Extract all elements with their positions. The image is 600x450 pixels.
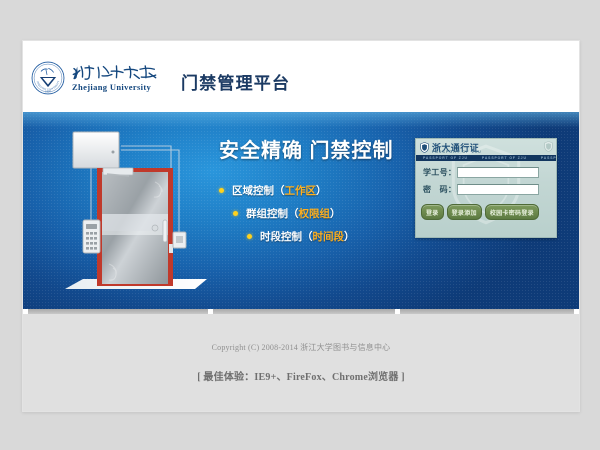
bullet-dot-icon xyxy=(219,188,224,193)
login-button-group: 登录 登录添加 校园卡密码登录 xyxy=(421,204,556,220)
page-title: 门禁管理平台 xyxy=(181,69,290,94)
feature-accent: 工作区 xyxy=(285,183,317,198)
strip-text: PASSPORT OF ZJU xyxy=(475,156,534,160)
password-input[interactable] xyxy=(457,184,539,195)
username-label: 学工号： xyxy=(423,167,457,178)
login-add-button[interactable]: 登录添加 xyxy=(447,204,482,220)
hero-banner: 安全精确 门禁控制 区域控制（工作区） 群组控制（权限组） 时段控制（时间段） xyxy=(23,112,579,309)
feature-accent: 时间段 xyxy=(313,229,345,244)
feature-label: 群组控制（ xyxy=(246,206,299,221)
panel-title-en: PASSPORT OF ZJU xyxy=(432,150,482,154)
feature-label: 时段控制（ xyxy=(260,229,313,244)
university-name-en: Zhejiang University xyxy=(72,82,170,92)
feature-item: 时段控制（时间段） xyxy=(247,229,419,244)
corner-shield-icon xyxy=(544,141,553,152)
site-header: 1897 ZHEJIANG UNIVERSITY xyxy=(23,41,579,112)
feature-list: 区域控制（工作区） 群组控制（权限组） 时段控制（时间段） xyxy=(219,183,419,244)
wordmark: Zhejiang University xyxy=(72,64,170,92)
feature-item: 区域控制（工作区） xyxy=(219,183,419,198)
browser-support-text: [ 最佳体验：IE9+、FireFox、Chrome浏览器 ] xyxy=(23,368,579,383)
campus-card-login-button[interactable]: 校园卡密码登录 xyxy=(485,204,539,220)
feature-tail: ） xyxy=(330,206,341,221)
copyright-text: Copyright (C) 2008-2014 浙江大学图书与信息中心 xyxy=(23,342,579,353)
login-form: 学工号： 密 码： 登录 登录添加 校园卡密码登录 xyxy=(416,161,556,220)
shield-icon xyxy=(420,142,429,153)
password-label: 密 码： xyxy=(423,184,457,195)
feature-label: 区域控制（ xyxy=(232,183,285,198)
brand-block[interactable]: 1897 ZHEJIANG UNIVERSITY xyxy=(31,61,170,95)
strip-text: PASSPORT OF ZJU xyxy=(416,156,475,160)
username-input[interactable] xyxy=(457,167,539,178)
page-sheet: 1897 ZHEJIANG UNIVERSITY xyxy=(22,40,580,412)
bullet-dot-icon xyxy=(233,211,238,216)
zhejiang-university-seal-icon: 1897 ZHEJIANG UNIVERSITY xyxy=(31,61,65,95)
feature-accent: 权限组 xyxy=(299,206,331,221)
username-field-row: 学工号： xyxy=(423,167,556,178)
banner-headline: 安全精确 门禁控制 xyxy=(219,134,419,163)
feature-tail: ） xyxy=(344,229,355,244)
university-name-cn xyxy=(72,64,170,81)
feature-item: 群组控制（权限组） xyxy=(233,206,419,221)
password-field-row: 密 码： xyxy=(423,184,556,195)
banner-copy: 安全精确 门禁控制 区域控制（工作区） 群组控制（权限组） 时段控制（时间段） xyxy=(219,134,419,252)
bullet-dot-icon xyxy=(247,234,252,239)
login-button[interactable]: 登录 xyxy=(421,204,444,220)
access-control-door-illustration xyxy=(45,124,225,302)
strip-text: PASSPORT OF ZJU xyxy=(534,156,556,160)
site-footer: Copyright (C) 2008-2014 浙江大学图书与信息中心 [ 最佳… xyxy=(23,314,579,411)
login-panel: 浙大通行证 PASSPORT OF ZJU PASSPORT OF ZJU PA… xyxy=(415,138,557,238)
feature-tail: ） xyxy=(316,183,327,198)
